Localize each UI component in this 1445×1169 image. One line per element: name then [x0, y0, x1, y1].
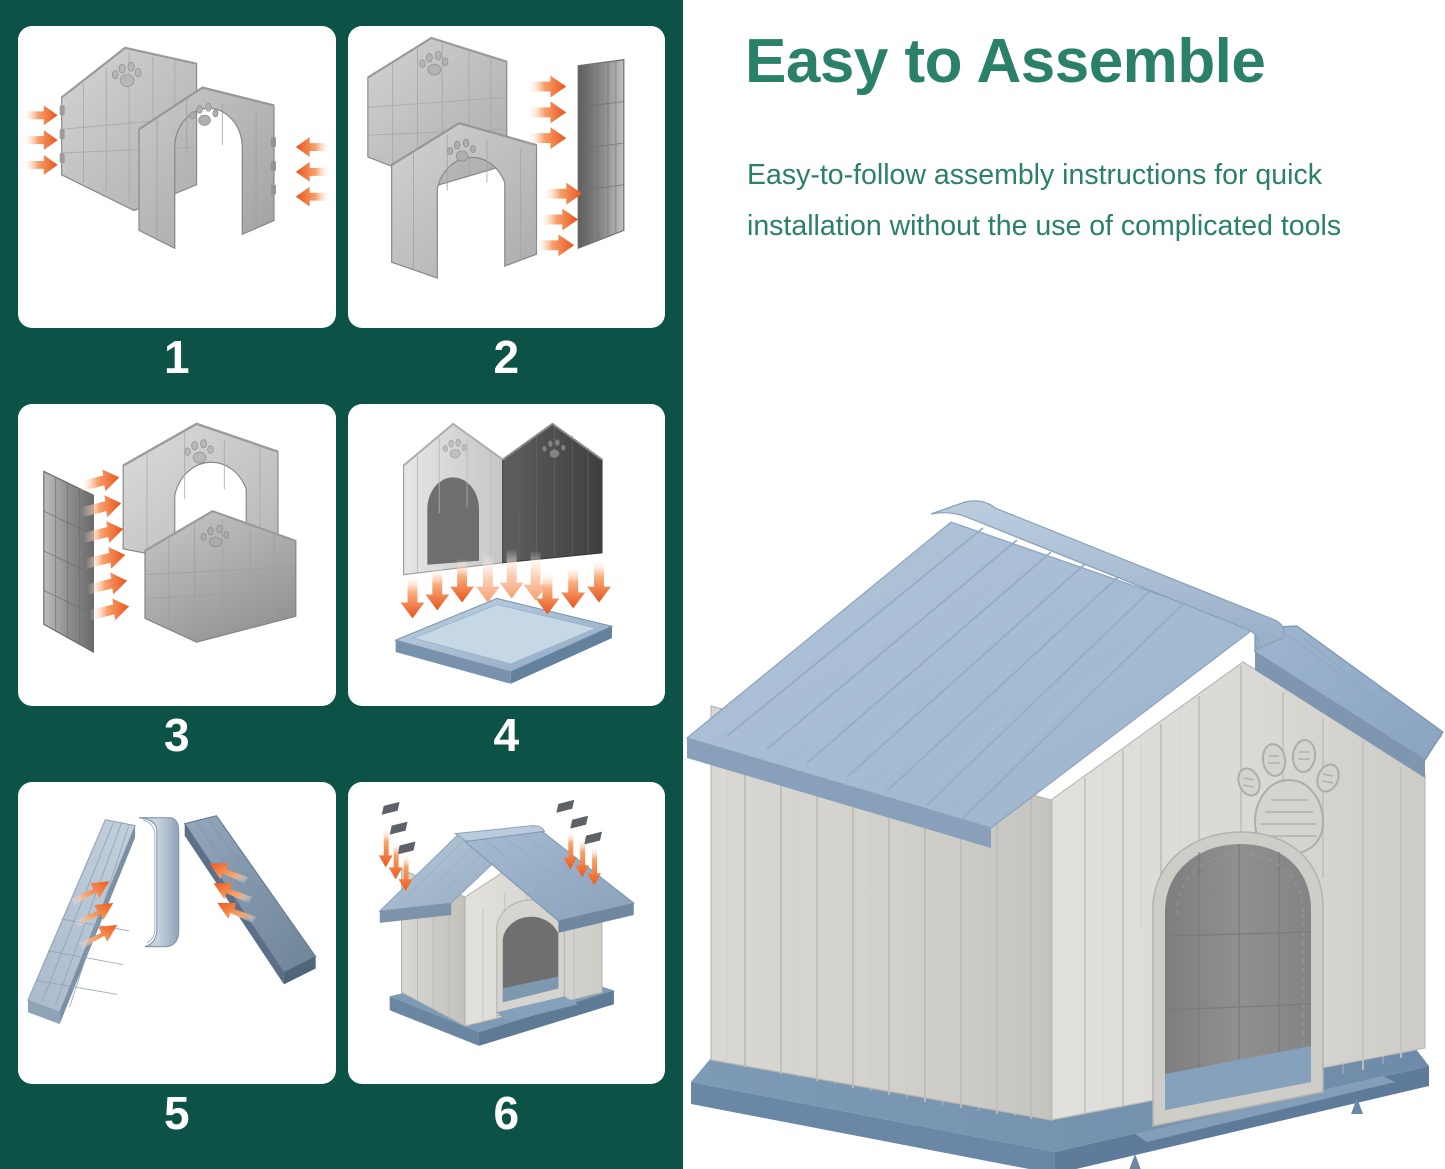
dog-house-illustration [683, 470, 1445, 1169]
assembly-arrows-left [22, 105, 58, 174]
step-2-cell: 2 [348, 26, 666, 390]
step-6-number: 6 [348, 1084, 666, 1146]
assembly-steps-panel: 1 [0, 0, 683, 1169]
step-5-figure [18, 782, 336, 1070]
step-3-illustration-card [18, 404, 336, 706]
step-6-cell: 6 [348, 782, 666, 1146]
assembly-arrows-lower [534, 183, 582, 256]
side-wall-panel [578, 60, 624, 249]
step-1-figure [18, 26, 336, 314]
assembly-arrows-upper [526, 76, 566, 149]
ridge-cap [139, 818, 179, 947]
step-2-number: 2 [348, 328, 666, 390]
step-4-figure [348, 404, 666, 692]
doorway-opening [1153, 832, 1323, 1126]
page-title: Easy to Assemble [745, 26, 1435, 97]
assembly-steps-grid: 1 [18, 26, 665, 1146]
assembly-arrows-right [296, 137, 332, 206]
step-1-cell: 1 [18, 26, 336, 390]
step-2-figure [348, 26, 666, 314]
step-6-illustration-card [348, 782, 666, 1084]
feature-content-panel: Easy to Assemble Easy-to-follow assembly… [683, 0, 1445, 1169]
step-6-figure [348, 782, 666, 1070]
step-3-number: 3 [18, 706, 336, 768]
step-1-illustration-card [18, 26, 336, 328]
step-4-illustration-card [348, 404, 666, 706]
step-5-cell: 5 [18, 782, 336, 1146]
floor-base-panel [395, 598, 611, 683]
step-3-cell: 3 [18, 404, 336, 768]
step-2-illustration-card [348, 26, 666, 328]
step-4-number: 4 [348, 706, 666, 768]
page-subtitle: Easy-to-follow assembly instructions for… [747, 150, 1427, 252]
step-3-figure [18, 404, 336, 692]
step-5-illustration-card [18, 782, 336, 1084]
assembled-walls-box [403, 424, 601, 575]
step-1-number: 1 [18, 328, 336, 390]
hero-product-image [683, 470, 1445, 1169]
step-4-cell: 4 [348, 404, 666, 768]
step-5-number: 5 [18, 1084, 336, 1146]
assembly-arrows-back [475, 549, 546, 603]
